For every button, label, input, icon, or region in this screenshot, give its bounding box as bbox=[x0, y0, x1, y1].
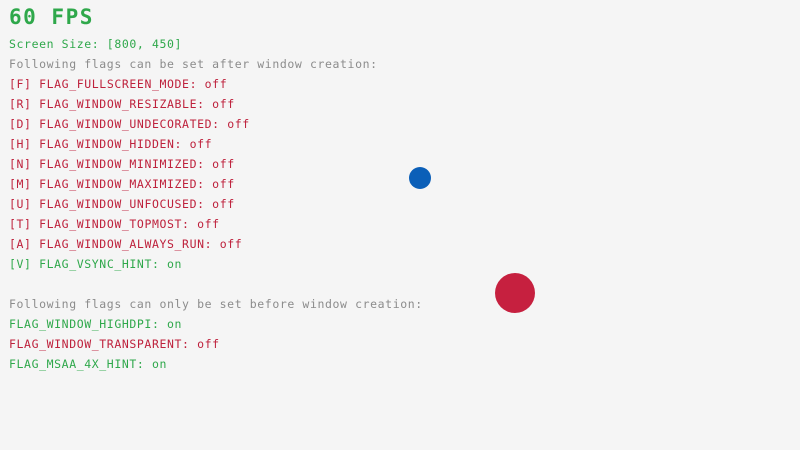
flag-row[interactable]: [U] FLAG_WINDOW_UNFOCUSED: off bbox=[9, 198, 235, 211]
flag-value: off bbox=[197, 217, 220, 231]
flag-value: off bbox=[220, 237, 243, 251]
red-ball bbox=[495, 273, 535, 313]
flag-hotkey: [R] bbox=[9, 97, 32, 111]
flag-hotkey: [U] bbox=[9, 197, 32, 211]
flag-name: FLAG_WINDOW_RESIZABLE: bbox=[39, 97, 205, 111]
flag-name: FLAG_WINDOW_HIDDEN: bbox=[39, 137, 182, 151]
flag-hotkey: [D] bbox=[9, 117, 32, 131]
flag-value: off bbox=[190, 137, 213, 151]
flag-name: FLAG_WINDOW_UNFOCUSED: bbox=[39, 197, 205, 211]
flag-value: off bbox=[197, 337, 220, 351]
flag-name: FLAG_MSAA_4X_HINT: bbox=[9, 357, 144, 371]
flag-value: off bbox=[212, 157, 235, 171]
flag-name: FLAG_WINDOW_TOPMOST: bbox=[39, 217, 189, 231]
flag-value: off bbox=[212, 197, 235, 211]
flag-value: off bbox=[227, 117, 250, 131]
flag-hotkey: [M] bbox=[9, 177, 32, 191]
flag-value: off bbox=[212, 177, 235, 191]
flag-row[interactable]: [A] FLAG_WINDOW_ALWAYS_RUN: off bbox=[9, 238, 242, 251]
flag-hotkey: [N] bbox=[9, 157, 32, 171]
flag-name: FLAG_WINDOW_UNDECORATED: bbox=[39, 117, 220, 131]
flag-row[interactable]: [F] FLAG_FULLSCREEN_MODE: off bbox=[9, 78, 227, 91]
flag-row[interactable]: [M] FLAG_WINDOW_MAXIMIZED: off bbox=[9, 178, 235, 191]
flag-name: FLAG_FULLSCREEN_MODE: bbox=[39, 77, 197, 91]
flag-value: on bbox=[152, 357, 167, 371]
flag-row[interactable]: FLAG_WINDOW_HIGHDPI: on bbox=[9, 318, 182, 331]
after-creation-header: Following flags can be set after window … bbox=[9, 58, 378, 71]
flag-name: FLAG_WINDOW_TRANSPARENT: bbox=[9, 337, 190, 351]
flag-hotkey: [A] bbox=[9, 237, 32, 251]
flag-row[interactable]: [D] FLAG_WINDOW_UNDECORATED: off bbox=[9, 118, 250, 131]
flag-name: FLAG_WINDOW_MINIMIZED: bbox=[39, 157, 205, 171]
flag-row[interactable]: [H] FLAG_WINDOW_HIDDEN: off bbox=[9, 138, 212, 151]
flag-row[interactable]: FLAG_WINDOW_TRANSPARENT: off bbox=[9, 338, 220, 351]
flag-value: off bbox=[205, 77, 228, 91]
fps-counter: 60 FPS bbox=[9, 6, 94, 28]
blue-ball bbox=[409, 167, 431, 189]
flag-hotkey: [F] bbox=[9, 77, 32, 91]
flag-row[interactable]: [N] FLAG_WINDOW_MINIMIZED: off bbox=[9, 158, 235, 171]
raylib-window-flags-demo: 60 FPS Screen Size: [800, 450] Following… bbox=[0, 0, 800, 450]
flag-row[interactable]: [R] FLAG_WINDOW_RESIZABLE: off bbox=[9, 98, 235, 111]
flag-name: FLAG_VSYNC_HINT: bbox=[39, 257, 159, 271]
flag-value: off bbox=[212, 97, 235, 111]
flag-name: FLAG_WINDOW_HIGHDPI: bbox=[9, 317, 159, 331]
flag-hotkey: [T] bbox=[9, 217, 32, 231]
flag-row[interactable]: [T] FLAG_WINDOW_TOPMOST: off bbox=[9, 218, 220, 231]
screen-size-label: Screen Size: [800, 450] bbox=[9, 38, 182, 51]
flag-hotkey: [V] bbox=[9, 257, 32, 271]
flag-row[interactable]: FLAG_MSAA_4X_HINT: on bbox=[9, 358, 167, 371]
before-creation-header: Following flags can only be set before w… bbox=[9, 298, 423, 311]
flag-hotkey: [H] bbox=[9, 137, 32, 151]
flag-value: on bbox=[167, 317, 182, 331]
flag-name: FLAG_WINDOW_MAXIMIZED: bbox=[39, 177, 205, 191]
flag-value: on bbox=[167, 257, 182, 271]
flag-row[interactable]: [V] FLAG_VSYNC_HINT: on bbox=[9, 258, 182, 271]
flag-name: FLAG_WINDOW_ALWAYS_RUN: bbox=[39, 237, 212, 251]
